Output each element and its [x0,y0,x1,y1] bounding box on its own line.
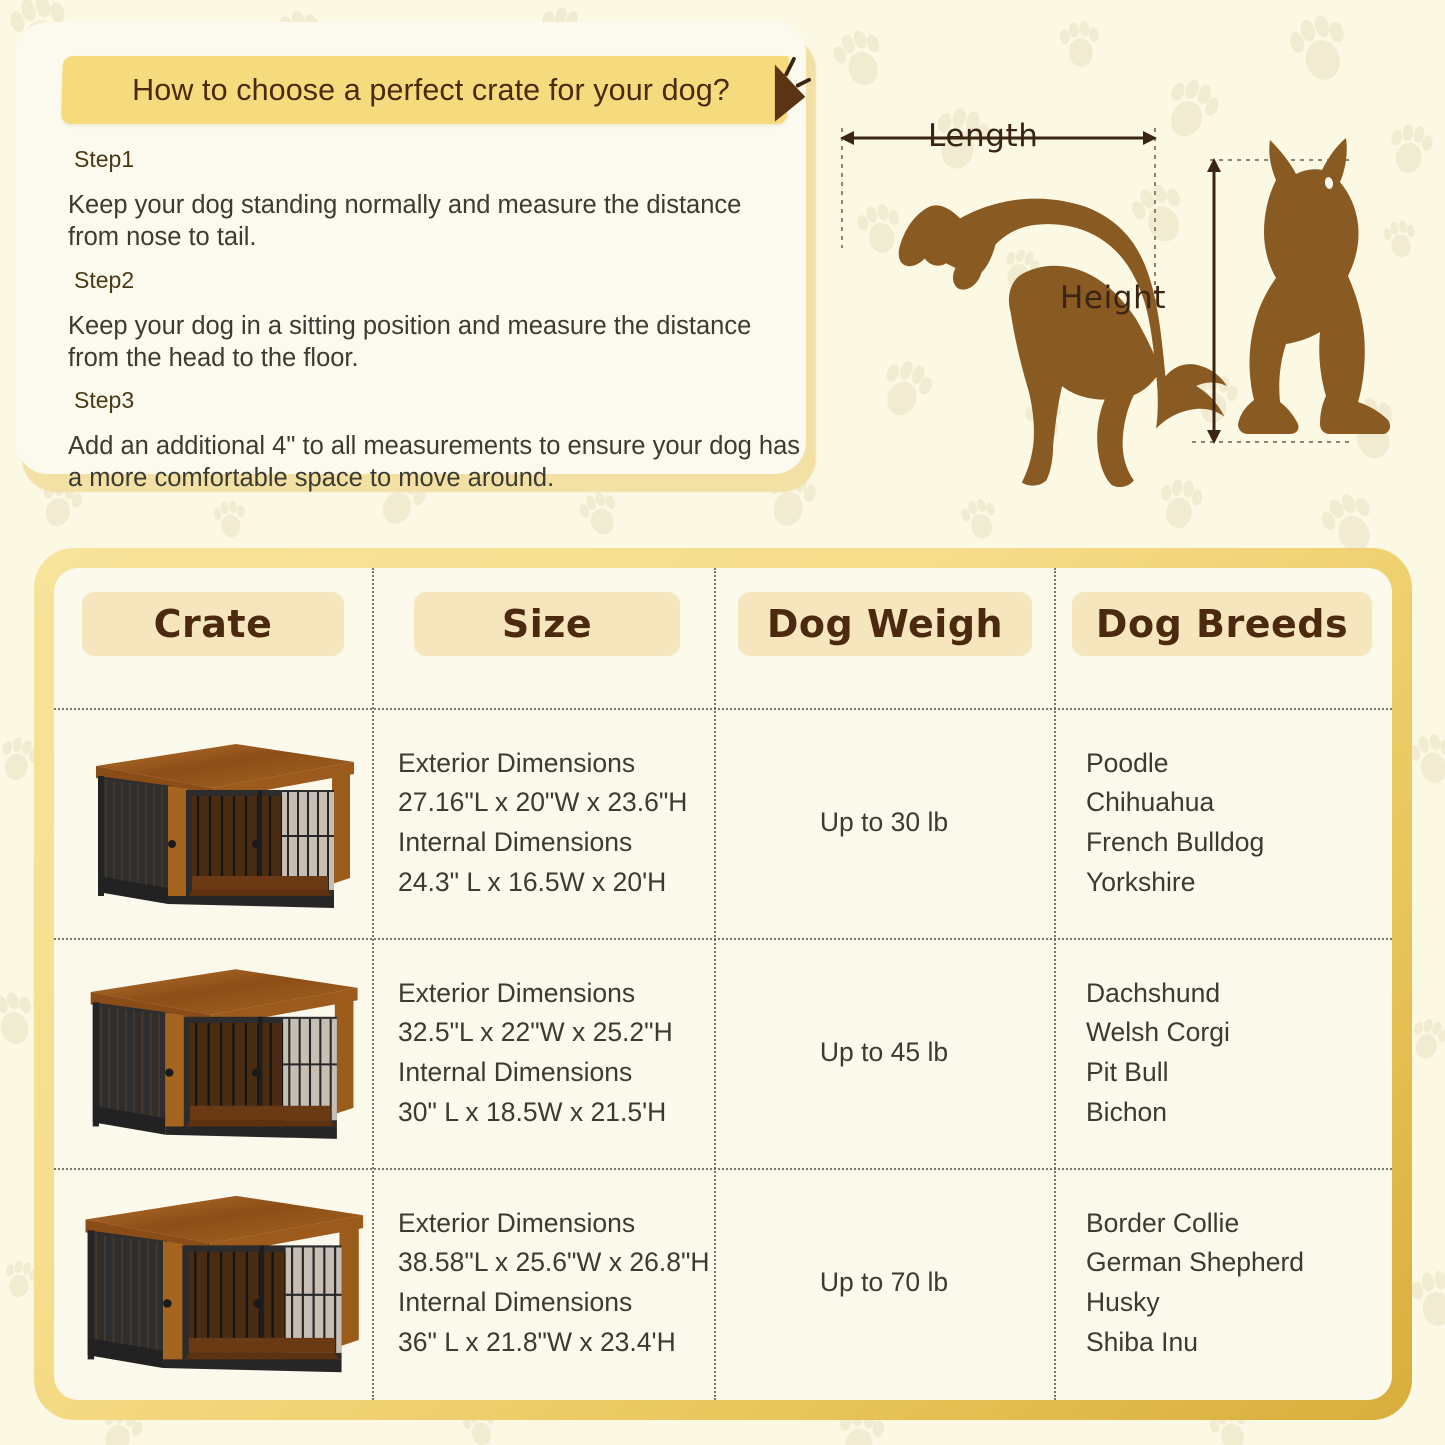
how-to-choose-card: How to choose a perfect crate for your d… [16,22,816,492]
size-line: Exterior Dimensions [398,1204,714,1244]
crate-image-row-1 [76,726,366,924]
step-text-1: Keep your dog standing normally and meas… [68,190,798,253]
step-badge-label-2: Step2 [74,267,134,293]
length-label: Length [928,118,1039,154]
step-text-2: Keep your dog in a sitting position and … [68,311,798,374]
step-badge-label-3: Step3 [74,387,134,413]
size-line: Exterior Dimensions [398,744,712,784]
breed-item: Shiba Inu [1086,1323,1392,1363]
banner-title: How to choose a perfect crate for your d… [78,56,784,124]
breed-item: Chihuahua [1086,783,1392,823]
weight-cell-row-1: Up to 30 lb [716,708,1052,938]
breed-item: Yorkshire [1086,863,1392,903]
size-line: 36" L x 21.8"W x 23.4'H [398,1323,714,1363]
breed-item: Welsh Corgi [1086,1013,1392,1053]
weight-cell-row-2: Up to 45 lb [716,938,1052,1168]
size-line: Internal Dimensions [398,1283,714,1323]
breeds-cell-row-2: Dachshund Welsh Corgi Pit Bull Bichon [1056,938,1392,1168]
size-line: 38.58"L x 25.6"W x 26.8"H [398,1243,714,1283]
step-badge-label-1: Step1 [74,146,134,172]
step-badge-1: Step1 [60,144,148,177]
header-label-dog-weigh: Dog Weigh [767,602,1003,646]
crate-size-table: Crate Size Dog Weigh Dog Breeds [34,548,1412,1420]
speech-pointer-icon [773,64,811,126]
breed-item: Border Collie [1086,1204,1392,1244]
card-surface: How to choose a perfect crate for your d… [16,22,806,474]
breed-item: French Bulldog [1086,823,1392,863]
card-banner: How to choose a perfect crate for your d… [62,56,802,124]
size-line: Internal Dimensions [398,823,712,863]
sitting-dog-silhouette [1238,138,1390,434]
size-line: 30" L x 18.5W x 21.5'H [398,1093,712,1133]
step-badge-3: Step3 [60,385,148,418]
size-line: Exterior Dimensions [398,974,712,1014]
table-header-row: Crate Size Dog Weigh Dog Breeds [54,568,1392,703]
header-chip-dog-breeds: Dog Breeds [1072,592,1372,656]
size-cell-row-2: Exterior Dimensions 32.5"L x 22"W x 25.2… [374,938,712,1168]
header-label-size: Size [502,602,592,646]
size-cell-row-1: Exterior Dimensions 27.16"L x 20"W x 23.… [374,708,712,938]
step-badge-2: Step2 [60,265,148,298]
header-label-crate: Crate [154,602,273,646]
size-cell-row-3: Exterior Dimensions 38.58"L x 25.6"W x 2… [374,1168,714,1398]
crate-image-row-3 [64,1176,376,1390]
step-text-3: Add an additional 4" to all measurements… [68,431,810,494]
header-chip-dog-weigh: Dog Weigh [738,592,1032,656]
size-line: Internal Dimensions [398,1053,712,1093]
header-chip-size: Size [414,592,680,656]
height-label: Height [1060,280,1166,316]
breed-item: Pit Bull [1086,1053,1392,1093]
header-label-dog-breeds: Dog Breeds [1096,602,1348,646]
breed-item: Poodle [1086,744,1392,784]
table-body: Crate Size Dog Weigh Dog Breeds [54,568,1392,1400]
breeds-cell-row-1: Poodle Chihuahua French Bulldog Yorkshir… [1056,708,1392,938]
breed-item: Dachshund [1086,974,1392,1014]
crate-image-row-2 [70,950,370,1156]
breed-item: Husky [1086,1283,1392,1323]
size-line: 32.5"L x 22"W x 25.2"H [398,1013,712,1053]
size-line: 27.16"L x 20"W x 23.6"H [398,783,712,823]
breed-item: German Shepherd [1086,1243,1392,1283]
breeds-cell-row-3: Border Collie German Shepherd Husky Shib… [1056,1168,1392,1398]
size-line: 24.3" L x 16.5W x 20'H [398,863,712,903]
dog-measurement-illustration: Length Height [810,120,1438,490]
weight-cell-row-3: Up to 70 lb [716,1168,1052,1398]
breed-item: Bichon [1086,1093,1392,1133]
header-chip-crate: Crate [82,592,344,656]
